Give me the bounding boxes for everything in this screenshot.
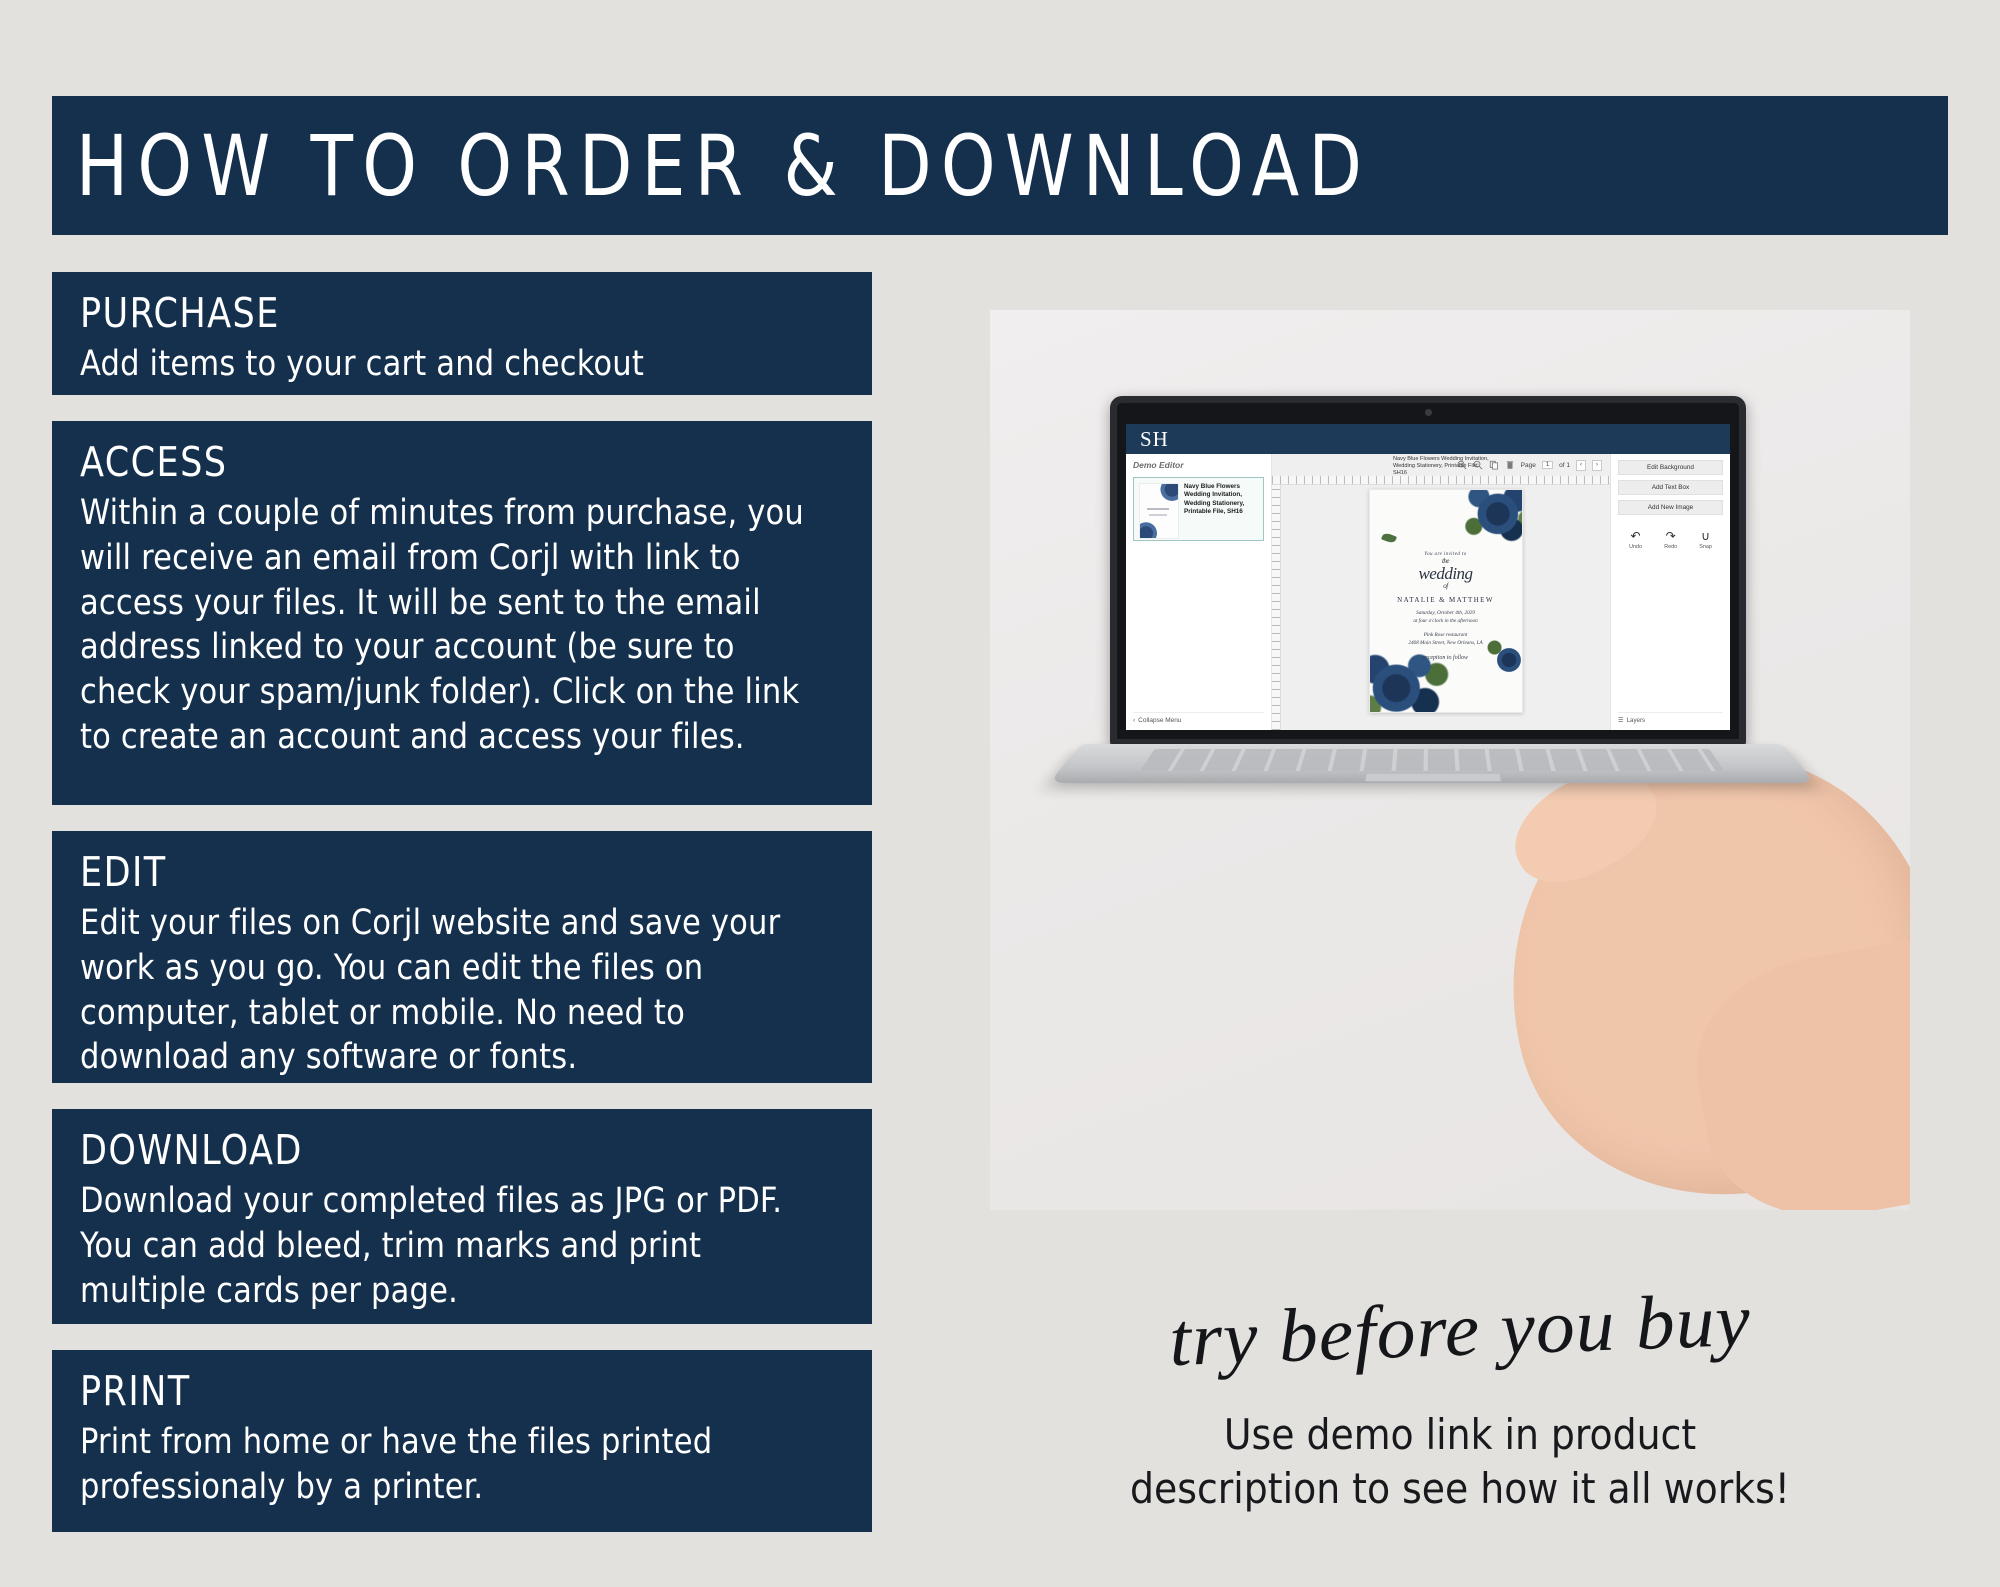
invitation-rsvp: reception to follow xyxy=(1370,655,1522,661)
editor-topbar: SH xyxy=(1126,424,1730,454)
thumbnail-floral-top-icon xyxy=(1158,484,1178,502)
step-print: PRINT Print from home or have the files … xyxy=(52,1350,872,1532)
step-print-title: PRINT xyxy=(80,1366,806,1416)
layers-button[interactable]: ☰ Layers xyxy=(1618,712,1723,724)
editor-logo: SH xyxy=(1140,427,1169,452)
laptop-lid: SH Demo Editor xyxy=(1110,396,1746,746)
editor-tool-row: ↶ Undo ↷ Redo ∪ Snap xyxy=(1618,530,1723,550)
laptop-screen: SH Demo Editor xyxy=(1126,424,1730,730)
floral-top-right-icon xyxy=(1448,489,1523,556)
promo-script-line: try before you buy xyxy=(1051,1278,1869,1382)
editor-sidebar: Demo Editor Navy Blue Flowers Wedding In… xyxy=(1126,454,1272,730)
invitation-time: at four o'clock in the afternoon xyxy=(1370,618,1522,626)
page-root: HOW TO ORDER & DOWNLOAD PURCHASE Add ite… xyxy=(0,0,2000,1587)
step-download-title: DOWNLOAD xyxy=(80,1125,806,1175)
canvas[interactable]: You are invited to the wedding of NATALI… xyxy=(1281,485,1610,730)
page-total-label: of 1 xyxy=(1559,462,1570,469)
collapse-menu-label: Collapse Menu xyxy=(1138,717,1181,724)
delete-icon[interactable] xyxy=(1505,460,1515,470)
promo-cta: Use demo link in product description to … xyxy=(990,1408,1930,1516)
step-access: ACCESS Within a couple of minutes from p… xyxy=(52,421,872,805)
snap-button[interactable]: ∪ Snap xyxy=(1699,530,1712,550)
steps-list: PURCHASE Add items to your cart and chec… xyxy=(52,272,872,1558)
invitation-venue: Pink Rose restaurant xyxy=(1370,632,1522,640)
step-access-body: Within a couple of minutes from purchase… xyxy=(80,491,821,760)
file-list-item[interactable]: Navy Blue Flowers Wedding Invitation, We… xyxy=(1133,477,1264,541)
invitation-address: 2468 Main Street, New Orleans, LA xyxy=(1370,640,1522,648)
thumbnail-line xyxy=(1147,508,1169,510)
step-edit: EDIT Edit your files on Corjl website an… xyxy=(52,831,872,1083)
horizontal-ruler xyxy=(1272,476,1610,485)
undo-button[interactable]: ↶ Undo xyxy=(1629,530,1642,550)
step-download-body: Download your completed files as JPG or … xyxy=(80,1179,821,1313)
editor-sidebar-title: Demo Editor xyxy=(1133,460,1264,470)
thumbnail-floral-bottom-icon xyxy=(1140,522,1160,538)
step-purchase-body: Add items to your cart and checkout xyxy=(80,342,821,387)
keyboard xyxy=(1140,749,1724,771)
page-number-input[interactable]: 1 xyxy=(1542,461,1553,469)
promo-cta-line-2: description to see how it all works! xyxy=(990,1462,1930,1516)
page-header: HOW TO ORDER & DOWNLOAD xyxy=(52,96,1948,235)
vertical-ruler xyxy=(1272,485,1281,730)
promo-cta-line-1: Use demo link in product xyxy=(990,1408,1930,1462)
collapse-menu-button[interactable]: ‹ Collapse Menu xyxy=(1133,712,1264,724)
editor-right-panel: Edit Background Add Text Box Add New Ima… xyxy=(1610,454,1730,730)
duplicate-icon[interactable] xyxy=(1489,460,1499,470)
product-photo: SH Demo Editor xyxy=(990,310,1910,1210)
snap-label: Snap xyxy=(1699,544,1712,550)
editor-toolbar: Navy Blue Flowers Wedding Invitation, We… xyxy=(1272,454,1610,476)
invitation-script-wedding: wedding xyxy=(1370,566,1522,582)
prev-page-button[interactable]: ‹ xyxy=(1576,460,1586,471)
layers-label: Layers xyxy=(1627,717,1646,724)
add-new-image-button[interactable]: Add New Image xyxy=(1618,500,1723,515)
invitation-text: You are invited to the wedding of NATALI… xyxy=(1370,552,1522,661)
undo-label: Undo xyxy=(1629,544,1642,550)
page-title: HOW TO ORDER & DOWNLOAD xyxy=(52,124,1371,208)
editor-body: Demo Editor Navy Blue Flowers Wedding In… xyxy=(1126,454,1730,730)
invitation-names: NATALIE & MATTHEW xyxy=(1370,596,1522,604)
zoom-out-icon[interactable] xyxy=(1473,460,1483,470)
chevron-left-icon: ‹ xyxy=(1133,717,1135,724)
zoom-in-icon[interactable] xyxy=(1457,460,1467,470)
redo-icon: ↷ xyxy=(1666,530,1676,542)
step-access-title: ACCESS xyxy=(80,437,806,487)
laptop-base xyxy=(1048,744,1815,783)
invitation-card[interactable]: You are invited to the wedding of NATALI… xyxy=(1369,489,1523,713)
file-thumbnail xyxy=(1139,483,1179,539)
add-text-box-button[interactable]: Add Text Box xyxy=(1618,480,1723,495)
file-item-label: Navy Blue Flowers Wedding Invitation, We… xyxy=(1184,483,1258,535)
laptop-mockup: SH Demo Editor xyxy=(1082,396,1782,916)
layers-icon: ☰ xyxy=(1618,717,1624,724)
editor-canvas-area: Navy Blue Flowers Wedding Invitation, We… xyxy=(1272,454,1610,730)
edit-background-button[interactable]: Edit Background xyxy=(1618,460,1723,475)
next-page-button[interactable]: › xyxy=(1592,460,1602,471)
invitation-script-of: of xyxy=(1370,583,1522,590)
step-print-body: Print from home or have the files printe… xyxy=(80,1420,821,1510)
webcam-icon xyxy=(1425,409,1432,416)
thumbnail-line xyxy=(1149,514,1167,516)
page-label: Page xyxy=(1521,462,1536,469)
trackpad xyxy=(1364,773,1502,782)
step-download: DOWNLOAD Download your completed files a… xyxy=(52,1109,872,1324)
redo-label: Redo xyxy=(1664,544,1677,550)
undo-icon: ↶ xyxy=(1631,530,1641,542)
step-purchase-title: PURCHASE xyxy=(80,288,806,338)
magnet-icon: ∪ xyxy=(1701,530,1710,542)
canvas-wrap: You are invited to the wedding of NATALI… xyxy=(1272,485,1610,730)
step-edit-body: Edit your files on Corjl website and sav… xyxy=(80,901,821,1080)
leaf-icon xyxy=(1381,532,1397,545)
step-purchase: PURCHASE Add items to your cart and chec… xyxy=(52,272,872,395)
step-edit-title: EDIT xyxy=(80,847,806,897)
redo-button[interactable]: ↷ Redo xyxy=(1664,530,1677,550)
